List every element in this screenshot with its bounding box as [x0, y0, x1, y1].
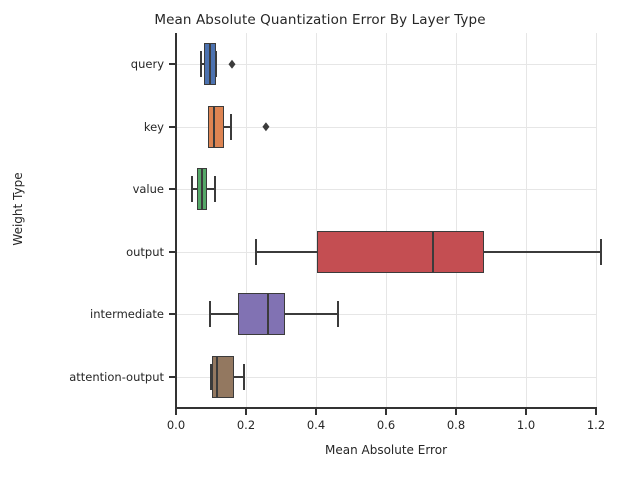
boxplot-attention-output — [0, 0, 640, 480]
median-line — [216, 356, 218, 398]
whisker-high-cap — [243, 364, 245, 390]
chart-figure: Mean Absolute Quantization Error By Laye… — [0, 0, 640, 480]
